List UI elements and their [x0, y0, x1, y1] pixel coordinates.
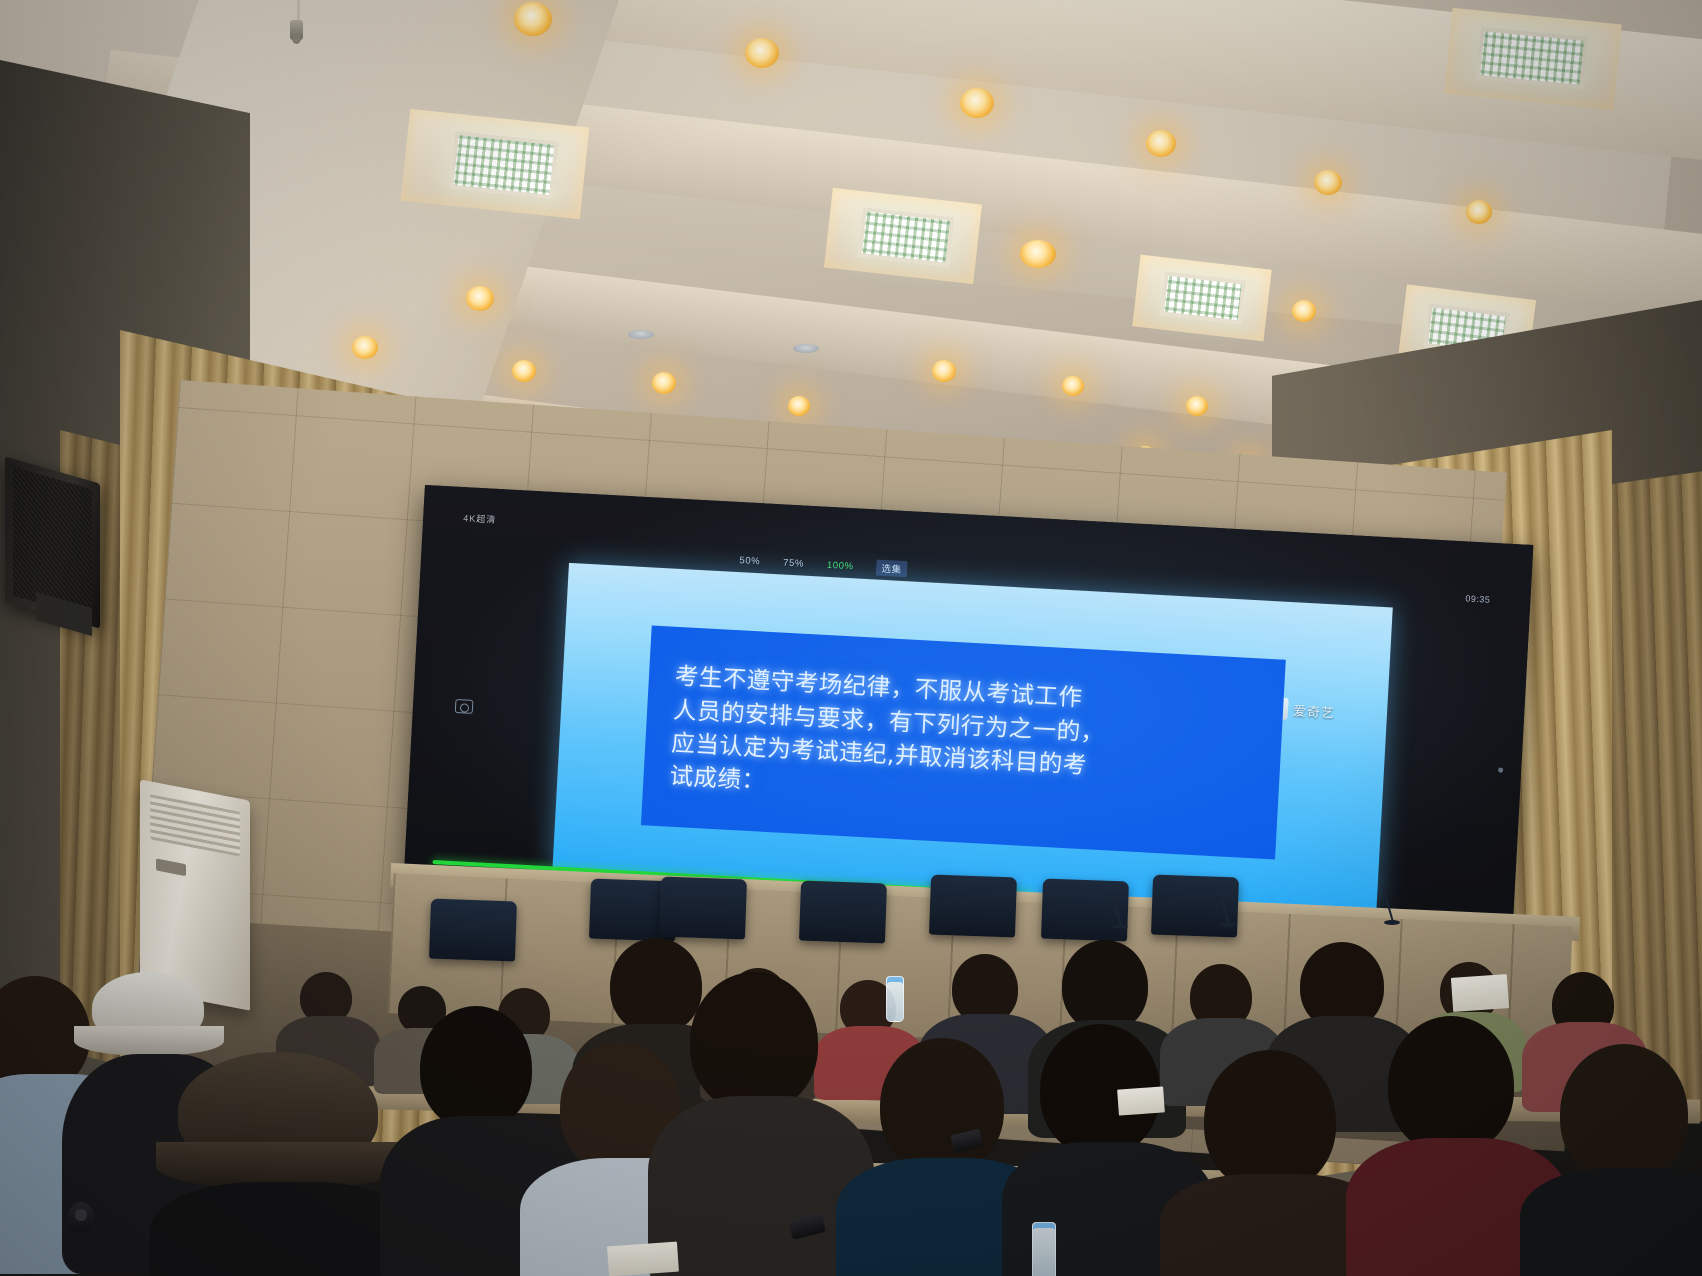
water-bottle — [886, 976, 904, 1022]
notebook — [1451, 974, 1509, 1012]
episode-selector[interactable]: 选集 — [876, 560, 907, 578]
ceiling-sprinkler — [290, 20, 303, 40]
downlight-14 — [1062, 376, 1084, 396]
audience-head — [880, 1038, 1004, 1174]
desk-microphone-base-1 — [1112, 924, 1128, 929]
downlight-15 — [1186, 396, 1208, 416]
downlight-11 — [652, 372, 676, 394]
smoke-detector-2 — [793, 344, 819, 353]
stage-chair-4 — [799, 881, 887, 944]
downlight-4 — [1146, 130, 1176, 157]
audience-head — [610, 938, 702, 1034]
troffer-light-5 — [1476, 27, 1589, 89]
downlight-13 — [932, 360, 956, 382]
downlight-5 — [1314, 170, 1342, 195]
lecture-hall-photo: 4K超清 50% 75% 100% 选集 09:35 iY 爱奇艺 考生不遵守考… — [0, 0, 1702, 1276]
paper-sheet — [1117, 1086, 1165, 1115]
desk-microphone-base-2 — [1220, 922, 1236, 927]
cap-brim — [74, 1026, 224, 1056]
screen-indicator-dot — [1498, 767, 1503, 772]
audience-head — [1204, 1050, 1336, 1192]
downlight-9 — [352, 336, 378, 359]
troffer-light-3 — [1160, 271, 1247, 324]
slide-text-box: 考生不遵守考场纪律，不服从考试工作 人员的安排与要求，有下列行为之一的， 应当认… — [641, 625, 1286, 859]
audience-head — [1062, 940, 1148, 1032]
smoke-detector-1 — [628, 330, 654, 339]
troffer-light-1 — [449, 131, 558, 200]
stage-chair-7 — [1151, 875, 1239, 938]
downlight-8 — [466, 286, 494, 311]
camera-icon — [455, 699, 474, 714]
troffer-light-2 — [857, 207, 954, 267]
quality-option-100[interactable]: 100% — [827, 559, 854, 571]
water-bottle — [1032, 1222, 1056, 1276]
stage-chair-5 — [929, 875, 1017, 938]
downlight-16 — [1292, 300, 1316, 322]
stage-chair-3 — [659, 877, 747, 940]
audience-head — [420, 1006, 532, 1130]
quality-option-50[interactable]: 50% — [739, 555, 760, 567]
downlight-10 — [512, 360, 536, 382]
iqiyi-watermark-text: 爱奇艺 — [1293, 700, 1336, 721]
audience-head — [690, 972, 818, 1112]
audience-head — [1560, 1044, 1688, 1184]
video-frame[interactable]: iY 爱奇艺 考生不遵守考场纪律，不服从考试工作 人员的安排与要求，有下列行为之… — [553, 563, 1393, 912]
downlight-7 — [1020, 240, 1056, 268]
downlight-6 — [1466, 200, 1492, 224]
paper-sheet — [607, 1242, 679, 1276]
downlight-12 — [788, 396, 810, 416]
downlight-1 — [514, 2, 552, 36]
downlight-2 — [745, 38, 779, 68]
audience-area — [0, 946, 1702, 1276]
handheld-fan — [68, 1202, 94, 1232]
audience-head — [1388, 1016, 1514, 1154]
desk-microphone-base-3 — [1384, 920, 1400, 925]
osd-resolution-label: 4K超清 — [463, 511, 497, 526]
downlight-3 — [960, 88, 994, 118]
quality-option-75[interactable]: 75% — [783, 557, 804, 569]
duration-label: 09:35 — [1465, 593, 1491, 604]
audience-body — [1520, 1168, 1702, 1276]
